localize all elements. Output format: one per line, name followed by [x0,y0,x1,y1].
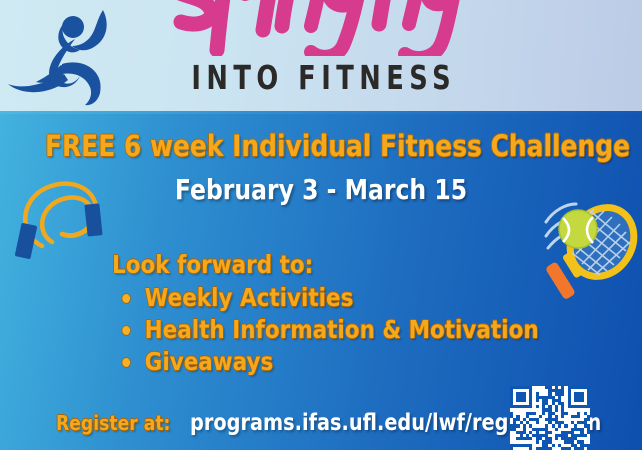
list-item: Giveaways [112,347,482,377]
bullet-icon [122,358,130,367]
jump-rope-icon [12,168,112,264]
bullet-icon [122,326,130,335]
band-divider [0,111,642,114]
benefits-block: Look forward to: Weekly Activities Healt… [112,250,542,377]
header-band: INTO FITNESS [0,0,642,113]
list-item-label: Health Information & Motivation [145,315,539,344]
tennis-racket-icon [538,196,642,306]
list-item: Weekly Activities [112,283,482,313]
benefits-title: Look forward to: [112,250,482,279]
list-item: Health Information & Motivation [112,315,482,345]
register-label: Register at: [56,411,170,435]
qr-code-icon[interactable] [510,386,590,450]
fitness-flyer: INTO FITNESS FREE 6 week Individual Fitn… [0,0,642,450]
benefits-list: Weekly Activities Health Information & M… [112,283,542,377]
date-range-text: February 3 - March 15 [51,173,590,206]
bullet-icon [122,294,130,303]
page-subtitle: INTO FITNESS [71,58,572,98]
headline-text: FREE 6 week Individual Fitness Challenge [45,129,597,163]
list-item-label: Weekly Activities [145,283,354,312]
list-item-label: Giveaways [145,347,274,376]
